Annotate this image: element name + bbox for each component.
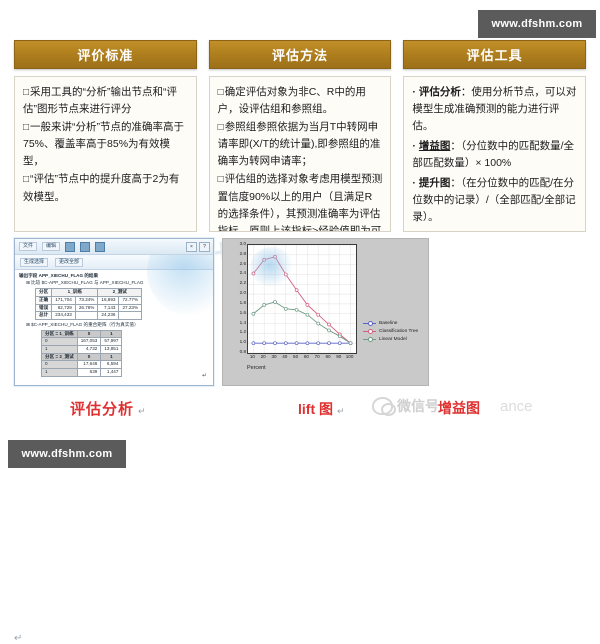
y-tick-label: 2.6 (224, 262, 246, 267)
y-tick-label: 2.2 (224, 281, 246, 286)
method-line-2: 参照组参照依据为当月T中转网申请率即(X/T的统计量),即参照组的准确率为转网申… (218, 119, 383, 170)
cell: 13,851 (101, 345, 122, 353)
cell (75, 312, 98, 320)
generate-select-button[interactable]: 生成选择 (20, 258, 48, 267)
spss-output-window[interactable]: 文件 编辑 × ? 生成选择 更改全部 输出字段 APP_XIECHU_FLAG… (14, 238, 214, 386)
caption-middle-text: lift 图 (298, 401, 333, 417)
lift-chart: 0.81.01.21.41.61.82.02.22.42.62.83.0 102… (222, 238, 429, 386)
output-tree-node-3-label: $C-APP_XIECHU_FLAG 的重合矩阵（行为真实值） (31, 322, 138, 327)
y-tick-label: 1.6 (224, 311, 246, 316)
y-tick-label: 3.0 (224, 242, 246, 247)
content-columns: 评价标准 采用工具的“分析”输出节点和“评估”图形节点来进行评分 一般来讲“分析… (14, 40, 586, 232)
cell: 57,997 (101, 338, 122, 346)
legend-swatch (363, 323, 376, 324)
cell: 62,729 (52, 304, 76, 312)
spss-toolbar[interactable]: 文件 编辑 × ? (15, 239, 213, 255)
table-header-row: 分区 1_训练 2_测试 (36, 289, 142, 297)
group1-header-1: 1 (101, 330, 122, 338)
bottom-row: 文件 编辑 × ? 生成选择 更改全部 输出字段 APP_XIECHU_FLAG… (0, 233, 600, 393)
caption-middle-mark: ↵ (337, 406, 345, 416)
th-partition: 分区 (36, 289, 52, 297)
column-body-evaluation-method: 确定评估对象为非C、R中的用户，设评估组和参照组。 参照组参照依据为当月T中转网… (209, 76, 392, 232)
legend-label: Classification Tree (379, 329, 418, 334)
change-all-button[interactable]: 更改全部 (55, 258, 83, 267)
th-test: 2_测试 (98, 289, 142, 297)
cell: 1 (42, 368, 78, 376)
caption-evaluation-analysis: 评估分析↵ (70, 398, 147, 419)
y-tick-label: 1.8 (224, 301, 246, 306)
caption-gain-chart: 增益图 (438, 398, 480, 418)
cell: 16,893 (98, 296, 119, 304)
y-tick-label: 2.4 (224, 271, 246, 276)
legend-item[interactable]: Linear Model (363, 337, 418, 342)
legend-item[interactable]: Baseline (363, 321, 418, 326)
caption-lift-chart: lift 图↵ (298, 399, 345, 419)
criteria-line-1: 采用工具的“分析”输出节点和“评估”图形节点来进行评分 (23, 84, 188, 118)
tools-term-3: 提升图 (419, 177, 451, 189)
th-train: 1_训练 (52, 289, 98, 297)
column-header-evaluation-method: 评估方法 (209, 40, 392, 69)
group1-label: 分区 = 1_训练 (42, 330, 78, 338)
legend-item[interactable]: Classification Tree (363, 329, 418, 334)
output-tree-node-2-label: 比较 $C-APP_XIECHU_FLAG 与 APP_XIECHU_FLAG (31, 280, 143, 285)
group2-header-1: 1 (101, 353, 122, 361)
cell: 总计 (36, 312, 52, 320)
cell: 1 (42, 345, 78, 353)
y-tick-label: 0.8 (224, 350, 246, 355)
cell: 73.24% (75, 296, 98, 304)
caption-left-mark: ↵ (138, 406, 147, 416)
y-tick-label: 2.0 (224, 291, 246, 296)
cell (119, 312, 142, 320)
wechat-label: 微信号 (397, 396, 439, 416)
tools-term-1: 评估分析 (419, 86, 461, 98)
cell: 17,646 (77, 361, 101, 369)
watermark-badge-top: www.dfshm.com (478, 10, 596, 38)
criteria-line-2: 一般来讲“分析”节点的准确率高于75%、覆盖率高于85%为有效模型， (23, 119, 188, 170)
wechat-watermark: 微信号 (372, 396, 439, 416)
table-row: 总计 234,433 24,236 (36, 312, 142, 320)
ghost-watermark-text: ance (500, 398, 533, 415)
group2-header-0: 0 (77, 353, 101, 361)
tools-term-2: 增益图 (419, 140, 451, 152)
table-row: 分区 = 1_训练 0 1 (42, 330, 122, 338)
slide-canvas: DFSHM www.dfshm.com 评价标准 采用工具的“分析”输出节点和“… (0, 0, 600, 480)
help-icon[interactable]: ? (199, 242, 210, 252)
cell: 1,447 (101, 368, 122, 376)
close-icon[interactable]: × (186, 242, 197, 252)
toolbar-button-file[interactable]: 文件 (19, 242, 37, 251)
watermark-badge-bottom: www.dfshm.com (8, 440, 126, 468)
legend-label: Linear Model (379, 337, 407, 342)
confusion-matrix-table: 分区 = 1_训练 0 1 0 167,053 57,997 1 4,732 1… (41, 330, 122, 377)
left-paragraph-mark: ↵ (14, 633, 22, 644)
lift-chart-svg (248, 245, 356, 353)
cell: 639 (77, 368, 101, 376)
legend-swatch (363, 331, 376, 332)
column-evaluation-method: 评估方法 确定评估对象为非C、R中的用户，设评估组和参照组。 参照组参照依据为当… (209, 40, 392, 232)
cell: 6,594 (101, 361, 122, 369)
x-tick-label: 100 (344, 354, 356, 359)
cell: 错误 (36, 304, 52, 312)
cell: 26.76% (75, 304, 98, 312)
cell: 24,236 (98, 312, 119, 320)
y-tick-label: 2.8 (224, 252, 246, 257)
table-row: 分区 = 2_测试 0 1 (42, 353, 122, 361)
column-evaluation-criteria: 评价标准 采用工具的“分析”输出节点和“评估”图形节点来进行评分 一般来讲“分析… (14, 40, 197, 232)
table-row: 1 639 1,447 (42, 368, 122, 376)
tools-item-1: 评估分析：使用分析节点，可以对模型生成准确预测的能力进行评估。 (412, 84, 577, 135)
tools-item-3: 提升图：（在分位数中的匹配/在分位数中的记录）/（全部匹配/全部记录）。 (412, 175, 577, 226)
paragraph-mark: ↵ (202, 372, 207, 379)
toolbar-button-edit[interactable]: 编辑 (42, 242, 60, 251)
lift-chart-plot-area (247, 244, 357, 354)
table-row: 0 17,646 6,594 (42, 361, 122, 369)
refresh-icon[interactable] (80, 242, 90, 252)
column-header-evaluation-criteria: 评价标准 (14, 40, 197, 69)
cell: 0 (42, 361, 78, 369)
y-tick-label: 1.2 (224, 330, 246, 335)
table-row: 正确 171,704 73.24% 16,893 72.77% (36, 296, 142, 304)
y-tick-label: 1.0 (224, 340, 246, 345)
column-header-evaluation-tools: 评估工具 (403, 40, 586, 69)
window-controls[interactable]: × ? (186, 242, 210, 252)
cell: 171,704 (52, 296, 76, 304)
method-line-1: 确定评估对象为非C、R中的用户，设评估组和参照组。 (218, 84, 383, 118)
tools-item-2: 增益图：（分位数中的匹配数量/全部匹配数量）× 100% (412, 138, 577, 172)
column-body-evaluation-criteria: 采用工具的“分析”输出节点和“评估”图形节点来进行评分 一般来讲“分析”节点的准… (14, 76, 197, 232)
output-tree-node-3[interactable]: ⊞ $C-APP_XIECHU_FLAG 的重合矩阵（行为真实值） (19, 322, 209, 329)
cell: 27.23% (119, 304, 142, 312)
column-body-evaluation-tools: 评估分析：使用分析节点，可以对模型生成准确预测的能力进行评估。 增益图：（分位数… (403, 76, 586, 232)
cell: 167,053 (77, 338, 101, 346)
column-evaluation-tools: 评估工具 评估分析：使用分析节点，可以对模型生成准确预测的能力进行评估。 增益图… (403, 40, 586, 232)
group2-label: 分区 = 2_测试 (42, 353, 78, 361)
x-axis-title: Percent (247, 365, 266, 371)
coincidence-summary-table: 分区 1_训练 2_测试 正确 171,704 73.24% 16,893 72… (35, 288, 142, 320)
legend-swatch (363, 339, 376, 340)
caption-left-text: 评估分析 (70, 401, 134, 418)
caption-right-text: 增益图 (438, 400, 480, 416)
y-tick-label: 1.4 (224, 321, 246, 326)
chart-legend: BaselineClassification TreeLinear Model (363, 321, 418, 345)
group1-header-0: 0 (77, 330, 101, 338)
chart-icon[interactable] (65, 242, 75, 252)
table-row: 错误 62,729 26.76% 7,143 27.23% (36, 304, 142, 312)
method-line-3: 评估组的选择对象考虑用模型预测置信度90%以上的用户（且满足R的选择条件），其预… (218, 171, 383, 232)
cell: 234,433 (52, 312, 76, 320)
table-row: 0 167,053 57,997 (42, 338, 122, 346)
legend-label: Baseline (379, 321, 397, 326)
cell: 7,143 (98, 304, 119, 312)
table-row: 1 4,732 13,851 (42, 345, 122, 353)
cell: 72.77% (119, 296, 142, 304)
wechat-icon (372, 397, 393, 415)
cell: 4,732 (77, 345, 101, 353)
export-icon[interactable] (95, 242, 105, 252)
criteria-line-3: “评估”节点中的提升度高于2为有效模型。 (23, 171, 188, 205)
cell: 正确 (36, 296, 52, 304)
cell: 0 (42, 338, 78, 346)
